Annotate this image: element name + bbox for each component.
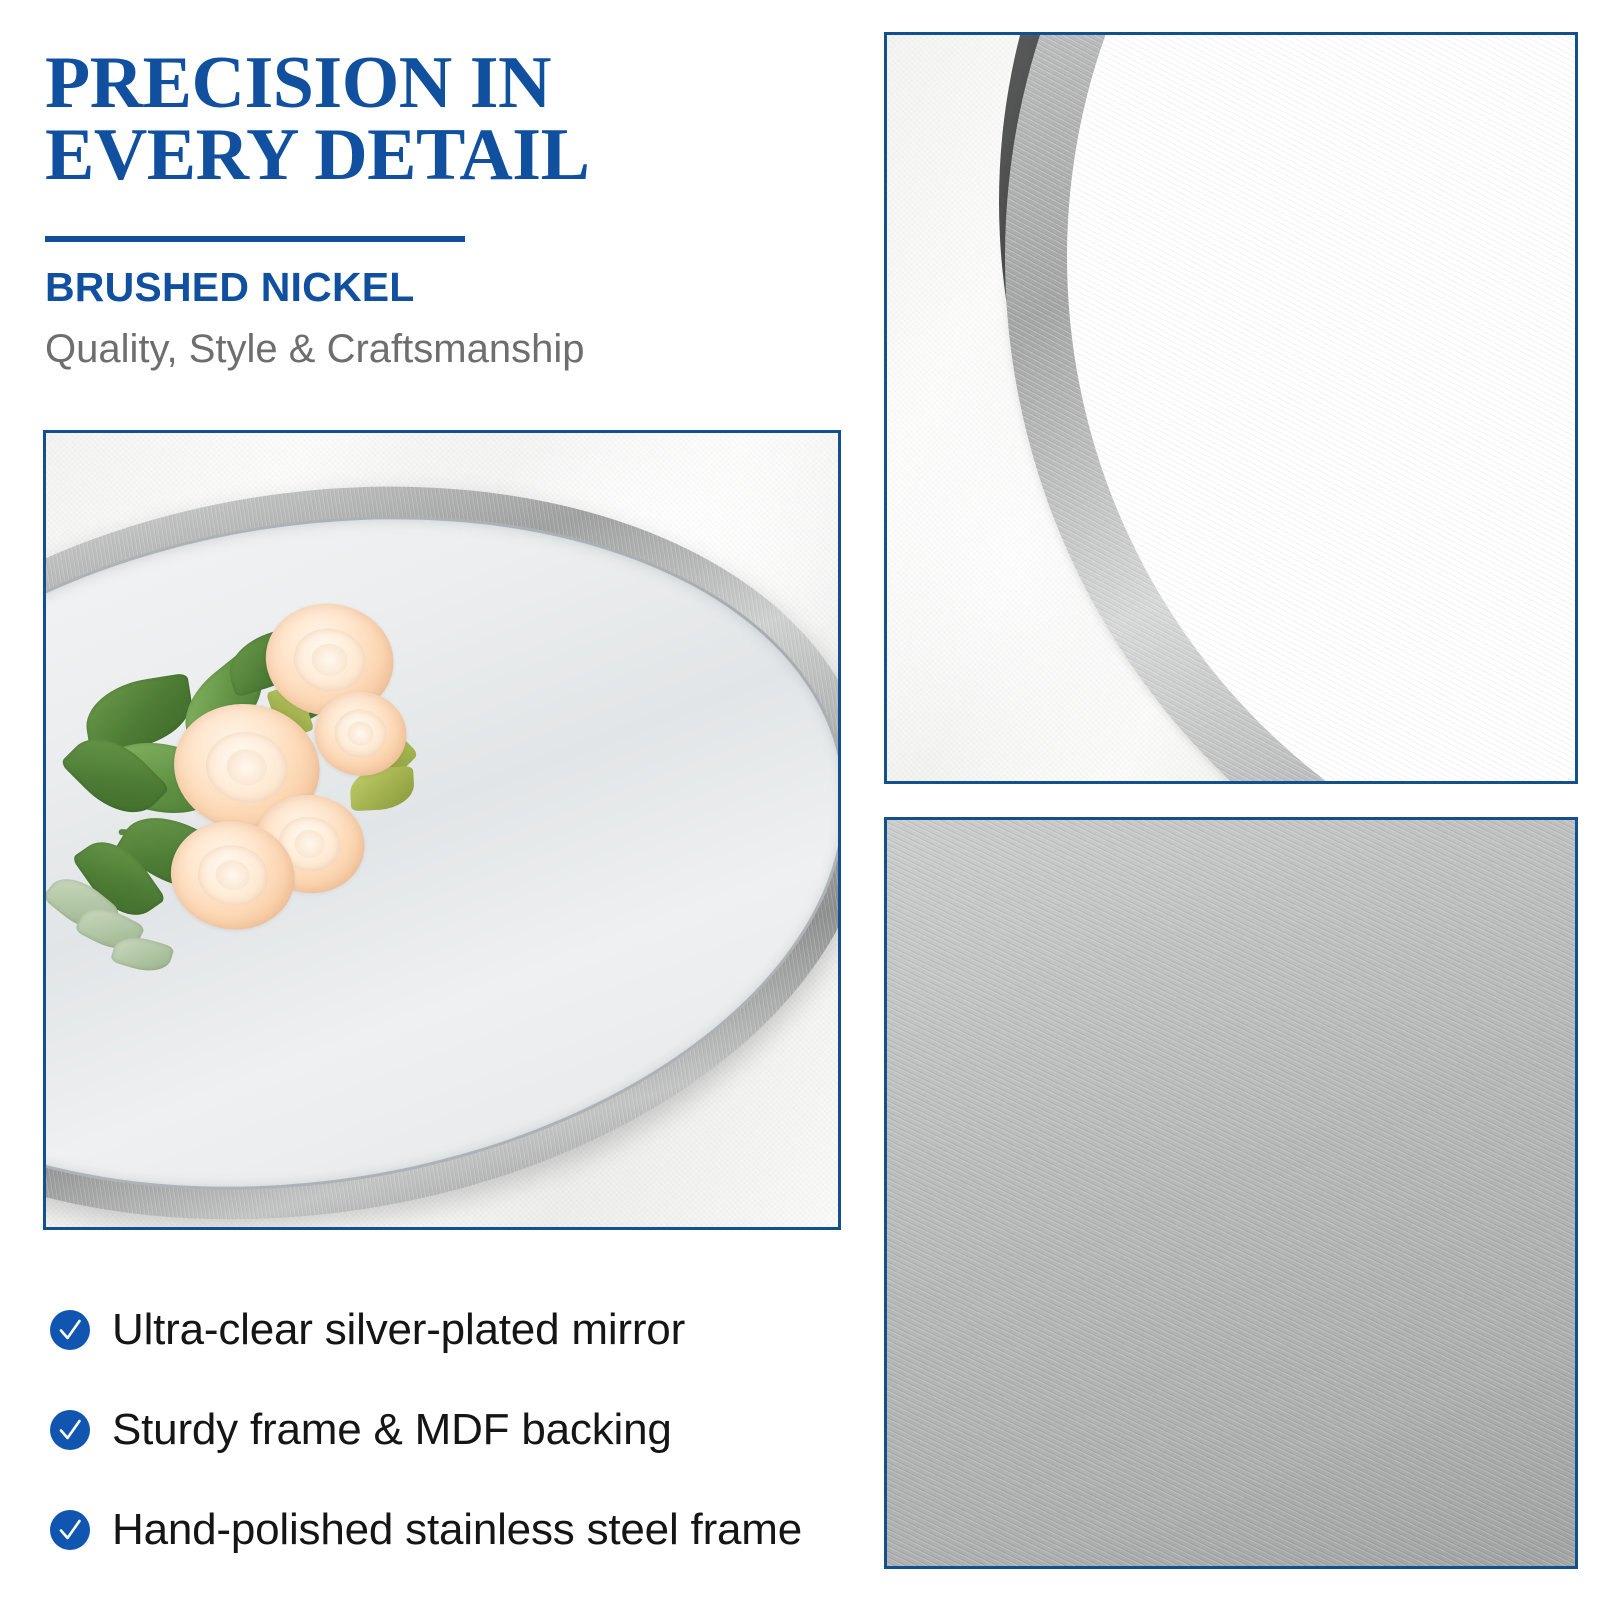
gap-profile-closeup: [887, 820, 1575, 1566]
title-divider: [45, 236, 465, 242]
page-title: PRECISION IN EVERY DETAIL: [45, 48, 835, 192]
check-circle-icon: [50, 1310, 90, 1350]
main-product-image: [43, 430, 841, 1230]
detail-image-seamless-frame: 100% Seamless Frame & Superior Craftsman…: [884, 32, 1578, 784]
feature-label: Hand-polished stainless steel frame: [112, 1505, 802, 1555]
feature-label: Sturdy frame & MDF backing: [112, 1405, 672, 1455]
product-finish-subtitle: BRUSHED NICKEL: [45, 264, 835, 311]
rose-bouquet-reflection: [43, 545, 616, 1051]
header-text-block: PRECISION IN EVERY DETAIL BRUSHED NICKEL…: [45, 48, 835, 372]
feature-label: Ultra-clear silver-plated mirror: [112, 1305, 685, 1355]
product-tagline: Quality, Style & Craftsmanship: [45, 327, 835, 372]
brushed-nickel-arc: [1005, 35, 1575, 781]
brushed-texture-overlay: [887, 820, 1575, 1566]
list-item: Ultra-clear silver-plated mirror: [50, 1280, 850, 1380]
frame-highlight-band: [887, 820, 1575, 1566]
detail-image-uniform-gap: Uniform 1/12" gap with floating effect: [884, 817, 1578, 1569]
frame-edge-band: [887, 820, 1575, 1566]
list-item: Hand-polished stainless steel frame: [50, 1480, 850, 1580]
frame-arc-closeup: [887, 35, 1575, 781]
check-circle-icon: [50, 1510, 90, 1550]
list-item: Sturdy frame & MDF backing: [50, 1380, 850, 1480]
frame-shadow-line: [887, 820, 1575, 1566]
feature-list: Ultra-clear silver-plated mirror Sturdy …: [50, 1280, 850, 1580]
check-circle-icon: [50, 1410, 90, 1450]
